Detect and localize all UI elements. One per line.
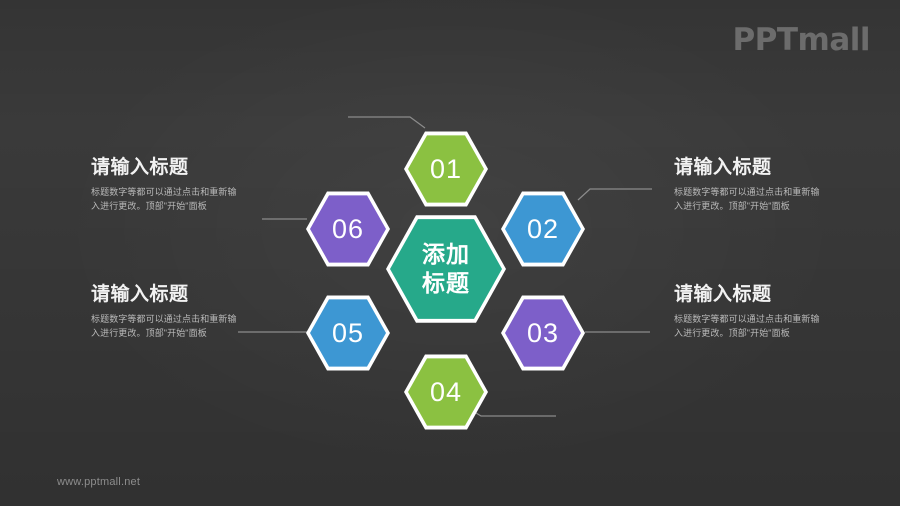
text-block-top-right: 请输入标题 标题数字等都可以通过点击和重新输入进行更改。顶部"开始"面板 [674,152,874,214]
hex-node-04-number: 04 [430,377,462,407]
text-block-bottom-left-title: 请输入标题 [91,279,291,306]
text-block-top-left-title: 请输入标题 [91,152,291,179]
text-block-bottom-right: 请输入标题 标题数字等都可以通过点击和重新输入进行更改。顶部"开始"面板 [674,279,874,341]
text-block-top-left: 请输入标题 标题数字等都可以通过点击和重新输入进行更改。顶部"开始"面板 [91,152,291,214]
hex-node-center-label-line2: 标题 [422,270,470,296]
text-block-top-right-title: 请输入标题 [674,152,874,179]
text-block-top-right-body: 标题数字等都可以通过点击和重新输入进行更改。顶部"开始"面板 [674,186,824,214]
text-block-bottom-left: 请输入标题 标题数字等都可以通过点击和重新输入进行更改。顶部"开始"面板 [91,279,291,341]
pptmall-logo: PPTmall [732,22,870,58]
text-block-bottom-left-body: 标题数字等都可以通过点击和重新输入进行更改。顶部"开始"面板 [91,313,241,341]
slide-canvas: PPTmall 01 02 03 04 [0,0,900,506]
hex-node-02-number: 02 [527,214,559,244]
hex-node-05-number: 05 [332,318,364,348]
hex-node-center-label-line1: 添加 [422,241,470,267]
hex-node-06-number: 06 [332,214,364,244]
text-block-bottom-right-title: 请输入标题 [674,279,874,306]
text-block-top-left-body: 标题数字等都可以通过点击和重新输入进行更改。顶部"开始"面板 [91,186,241,214]
footer-url: www.pptmall.net [57,476,140,488]
connector-line-01 [348,117,425,128]
text-block-bottom-right-body: 标题数字等都可以通过点击和重新输入进行更改。顶部"开始"面板 [674,313,824,341]
connector-line-04 [468,408,556,416]
connector-line-02 [578,189,652,200]
hex-node-01-number: 01 [430,154,462,184]
hex-node-center-label: 添加 标题 [422,240,470,298]
hex-node-03-number: 03 [527,318,559,348]
